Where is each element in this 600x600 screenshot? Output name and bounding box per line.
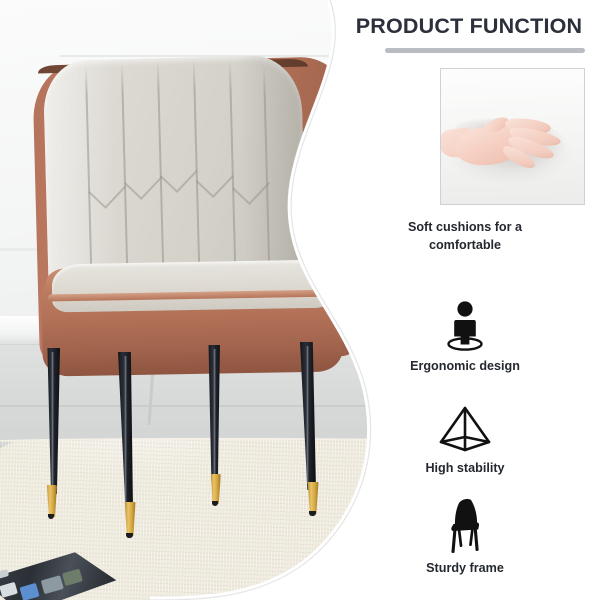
icon-container: [330, 398, 600, 454]
chevron-detail: [124, 162, 162, 200]
hand-icon: [443, 113, 573, 183]
leg-highlight: [51, 352, 54, 488]
chair-leg-tip: [307, 482, 319, 514]
chair-leg-tip: [46, 485, 57, 517]
caption-line-2: comfortable: [330, 236, 600, 254]
product-infographic: PRODUCT FUNCTION Soft cushions for a com…: [0, 0, 600, 600]
wireframe-pyramid-icon: [437, 404, 493, 454]
feature-sturdy-frame: Sturdy frame: [330, 498, 600, 575]
feature-label: Ergonomic design: [330, 359, 600, 373]
chair-leg-foot: [126, 533, 133, 538]
chair-leg-tip: [210, 474, 221, 504]
person-standing-on-ellipse-icon: [442, 300, 488, 352]
feature-label: High stability: [330, 461, 600, 475]
soft-cushion-photo: [440, 68, 585, 205]
chair-leg-tip: [124, 502, 136, 536]
feature-ergonomic-design: Ergonomic design: [330, 296, 600, 373]
leg-highlight: [306, 346, 309, 484]
feature-label: Sturdy frame: [330, 561, 600, 575]
chair-silhouette-icon: [440, 498, 490, 554]
chevron-detail: [160, 155, 198, 193]
chair-leg-foot: [212, 501, 218, 506]
page-title: PRODUCT FUNCTION: [338, 14, 600, 39]
chair-leg-foot: [309, 511, 316, 516]
icon-container: [330, 498, 600, 554]
feature-high-stability: High stability: [330, 398, 600, 475]
caption-line-1: Soft cushions for a: [330, 218, 600, 236]
chair-seat-cushion: [52, 260, 333, 313]
soft-cushion-caption: Soft cushions for a comfortable: [330, 218, 600, 254]
chair-leg-foot: [48, 514, 54, 519]
title-divider: [385, 48, 585, 53]
chevron-detail: [196, 160, 234, 198]
content-panel: PRODUCT FUNCTION Soft cushions for a com…: [330, 0, 600, 600]
leg-highlight: [124, 356, 127, 504]
icon-container: [330, 296, 600, 352]
leg-highlight: [213, 349, 216, 475]
